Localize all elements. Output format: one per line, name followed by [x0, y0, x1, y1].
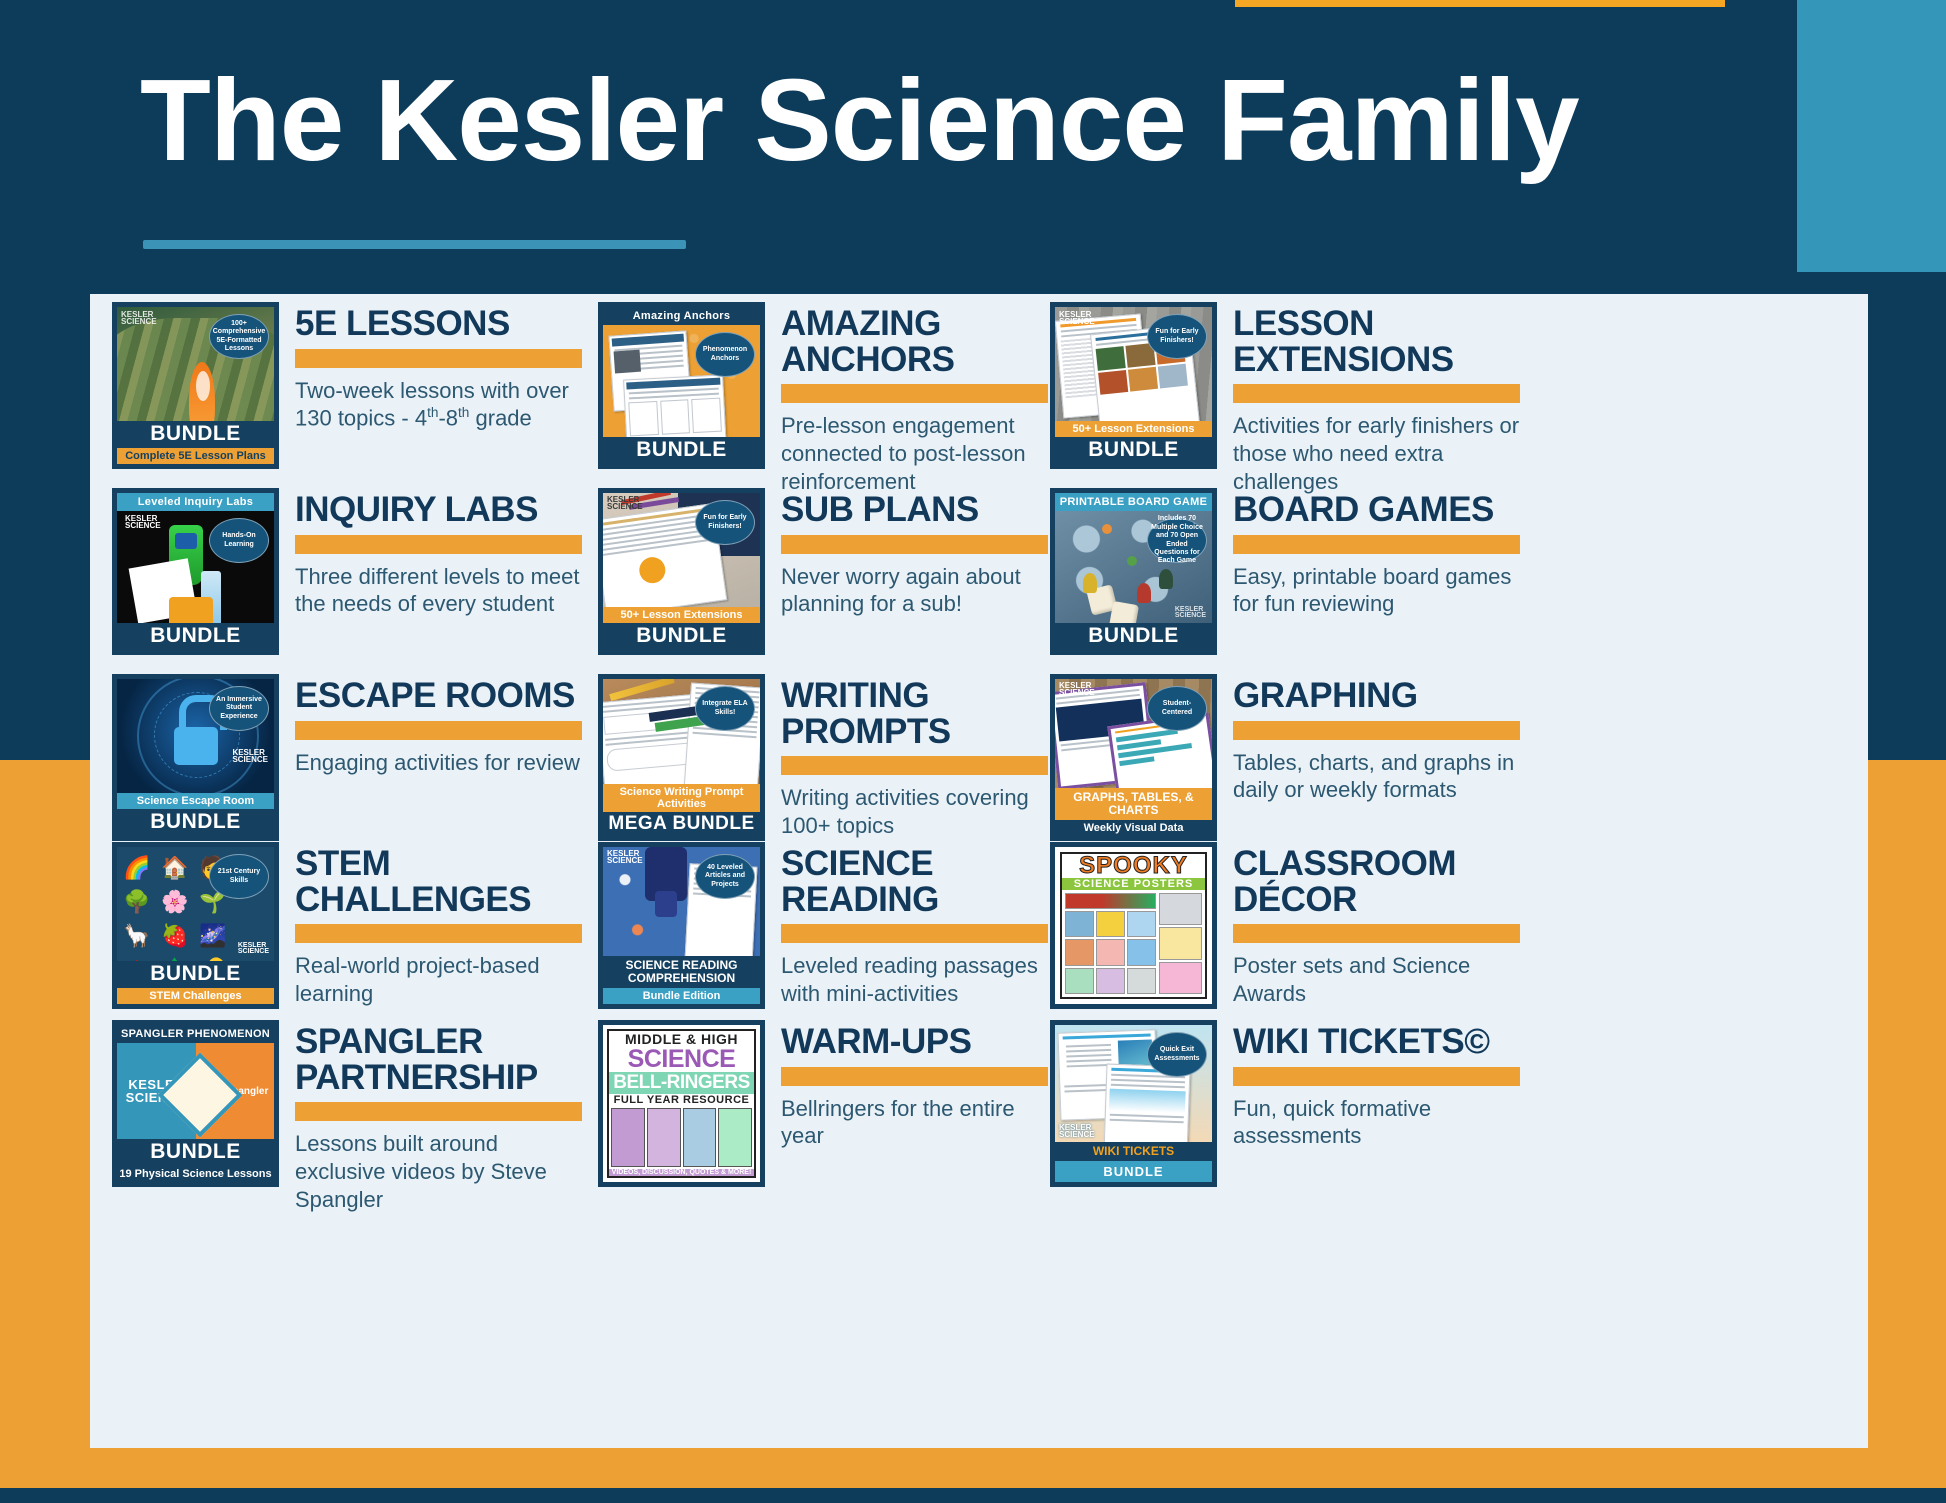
thumb-badge: 21st Century Skills: [209, 854, 269, 899]
product-info: SPANGLER PARTNERSHIP Lessons built aroun…: [295, 1020, 582, 1214]
product-description: Easy, printable board games for fun revi…: [1233, 563, 1520, 618]
product-info: GRAPHING Tables, charts, and graphs in d…: [1233, 674, 1520, 804]
product-description: Writing activities covering 100+ topics: [781, 784, 1048, 839]
product-title: ESCAPE ROOMS: [295, 678, 582, 714]
product-title-rule: [781, 924, 1048, 943]
product-card[interactable]: KESLERSCIENCE 40 Leveled Articles and Pr…: [598, 842, 1048, 1009]
product-title-rule: [1233, 535, 1520, 554]
thumb-badge: Integrate ELA Skills!: [695, 686, 755, 731]
product-thumbnail[interactable]: KESLERSCIENCE Student-Centered GRAPHS, T…: [1050, 674, 1217, 841]
thumb-badge: Hands-On Learning: [209, 518, 269, 563]
thumb-header: PRINTABLE BOARD GAME: [1055, 493, 1212, 511]
product-title-rule: [295, 535, 582, 554]
product-grid: KESLERSCIENCE 100+ Comprehensive 5E-Form…: [90, 294, 1868, 1448]
product-description: Lessons built around exclusive videos by…: [295, 1130, 582, 1213]
product-thumbnail[interactable]: PRINTABLE BOARD GAME KESLERSCIENCE Inclu…: [1050, 488, 1217, 655]
thumb-badge: Fun for Early Finishers!: [695, 500, 755, 545]
product-card[interactable]: PRINTABLE BOARD GAME KESLERSCIENCE Inclu…: [1050, 488, 1520, 655]
product-card[interactable]: KESLERSCIENCE An Immersive Student Exper…: [112, 674, 582, 841]
product-title-rule: [1233, 384, 1520, 403]
product-description: Never worry again about planning for a s…: [781, 563, 1048, 618]
product-card[interactable]: KESLERSCIENCE Quick Exit Assessments WIK…: [1050, 1020, 1520, 1187]
products-panel: KESLERSCIENCE 100+ Comprehensive 5E-Form…: [90, 294, 1868, 1448]
thumbnail-artwork: KESLERSCIENCE Quick Exit Assessments: [1055, 1025, 1212, 1142]
thumbnail-artwork: KESLERSCIENCE 100+ Comprehensive 5E-Form…: [117, 307, 274, 421]
product-description: Tables, charts, and graphs in daily or w…: [1233, 749, 1520, 804]
thumb-caption: 50+ Lesson Extensions: [603, 607, 760, 623]
thumb-subfooter: STEM Challenges: [117, 988, 274, 1004]
product-title-rule: [295, 349, 582, 368]
product-thumbnail[interactable]: MIDDLE & HIGH SCIENCE BELL-RINGERS FULL …: [598, 1020, 765, 1187]
product-info: WRITING PROMPTS Writing activities cover…: [781, 674, 1048, 840]
product-card[interactable]: SPANGLER PHENOMENON KESLERSCIENCE steves…: [112, 1020, 582, 1214]
thumbnail-artwork: KESLERSCIENCE Fun for Early Finishers!: [603, 493, 760, 607]
product-title: BOARD GAMES: [1233, 492, 1520, 528]
product-info: SCIENCE READING Leveled reading passages…: [781, 842, 1048, 1008]
product-thumbnail[interactable]: SPANGLER PHENOMENON KESLERSCIENCE steves…: [112, 1020, 279, 1187]
product-info: CLASSROOM DÉCOR Poster sets and Science …: [1233, 842, 1520, 1008]
product-title: INQUIRY LABS: [295, 492, 582, 528]
product-title: WARM-UPS: [781, 1024, 1048, 1060]
page-title: The Kesler Science Family: [140, 62, 1579, 178]
thumb-footer-label: BUNDLE: [117, 623, 274, 650]
thumb-header: Amazing Anchors: [603, 307, 760, 325]
thumb-footer-label: BUNDLE: [117, 1139, 274, 1166]
product-thumbnail[interactable]: Leveled Inquiry Labs KESLERSCIENCE Hands…: [112, 488, 279, 655]
product-title-rule: [295, 924, 582, 943]
product-title-rule: [1233, 721, 1520, 740]
thumbnail-artwork: MIDDLE & HIGH SCIENCE BELL-RINGERS FULL …: [603, 1025, 760, 1182]
product-thumbnail[interactable]: KESLERSCIENCE Quick Exit Assessments WIK…: [1050, 1020, 1217, 1187]
product-thumbnail[interactable]: KESLERSCIENCE Fun for Early Finishers! 5…: [598, 488, 765, 655]
product-card[interactable]: 🌈🏠🧑 🌳🌸🌱 🦙🍓🌌 🏫🌲🔑 KESLERSCIENCE 21st Centu…: [112, 842, 582, 1009]
thumb-caption: GRAPHS, TABLES, & CHARTS: [1055, 788, 1212, 820]
product-title-rule: [295, 1102, 582, 1121]
thumb-badge: Quick Exit Assessments: [1147, 1032, 1207, 1077]
thumb-footer-label: BUNDLE: [603, 437, 760, 464]
thumb-badge: Includes 70 Multiple Choice and 70 Open …: [1147, 518, 1207, 563]
product-card[interactable]: KESLERSCIENCE Student-Centered GRAPHS, T…: [1050, 674, 1520, 841]
thumb-badge: Fun for Early Finishers!: [1147, 314, 1207, 359]
product-card[interactable]: KESLERSCIENCE 100+ Comprehensive 5E-Form…: [112, 302, 582, 469]
thumb-caption: 50+ Lesson Extensions: [1055, 421, 1212, 437]
background-teal-block: [1797, 0, 1946, 272]
product-title: 5E LESSONS: [295, 306, 582, 342]
thumb-subfooter: 19 Physical Science Lessons: [117, 1166, 274, 1182]
product-title: SPANGLER PARTNERSHIP: [295, 1024, 582, 1095]
product-title-rule: [295, 721, 582, 740]
thumb-caption: SCIENCE READING COMPREHENSION: [603, 956, 760, 988]
thumb-caption: WIKI TICKETS: [1055, 1142, 1212, 1161]
thumb-subfooter: Bundle Edition: [603, 988, 760, 1004]
product-title: CLASSROOM DÉCOR: [1233, 846, 1520, 917]
thumb-badge: Student-Centered: [1147, 686, 1207, 731]
product-info: ESCAPE ROOMS Engaging activities for rev…: [295, 674, 582, 776]
background-orange-topline: [1235, 0, 1725, 7]
product-title-rule: [1233, 924, 1520, 943]
product-thumbnail[interactable]: Integrate ELA Skills! Science Writing Pr…: [598, 674, 765, 841]
product-thumbnail[interactable]: KESLERSCIENCE Fun for Early Finishers! 5…: [1050, 302, 1217, 469]
product-description: Three different levels to meet the needs…: [295, 563, 582, 618]
product-title-rule: [781, 756, 1048, 775]
thumb-footer-label: BUNDLE: [117, 809, 274, 836]
thumb-subfooter: Weekly Visual Data: [1055, 820, 1212, 836]
thumbnail-artwork: KESLERSCIENCE Fun for Early Finishers!: [1055, 307, 1212, 421]
product-info: INQUIRY LABS Three different levels to m…: [295, 488, 582, 618]
product-info: AMAZING ANCHORS Pre-lesson engagement co…: [781, 302, 1048, 496]
background-navy-footer: [0, 1488, 1946, 1503]
product-description: Two-week lessons with over 130 topics - …: [295, 377, 582, 433]
product-description: Leveled reading passages with mini-activ…: [781, 952, 1048, 1007]
product-title-rule: [1233, 1067, 1520, 1086]
product-title: WRITING PROMPTS: [781, 678, 1048, 749]
thumbnail-artwork: KESLERSCIENCE Student-Centered: [1055, 679, 1212, 788]
product-title: LESSON EXTENSIONS: [1233, 306, 1520, 377]
product-card[interactable]: KESLERSCIENCE Fun for Early Finishers! 5…: [1050, 302, 1520, 496]
product-title-rule: [781, 535, 1048, 554]
thumbnail-artwork: SPOOKY SCIENCE POSTERS: [1055, 847, 1212, 1004]
thumbnail-artwork: KESLERSCIENCE Includes 70 Multiple Choic…: [1055, 511, 1212, 623]
thumb-caption: Science Escape Room: [117, 793, 274, 809]
thumb-footer-label: MEGA BUNDLE: [603, 812, 760, 836]
thumb-caption: Science Writing Prompt Activities: [603, 784, 760, 812]
thumb-badge: Phenomenon Anchors: [695, 332, 755, 377]
thumbnail-artwork: Integrate ELA Skills!: [603, 679, 760, 784]
product-card[interactable]: Integrate ELA Skills! Science Writing Pr…: [598, 674, 1048, 841]
product-info: STEM CHALLENGES Real-world project-based…: [295, 842, 582, 1008]
thumb-subfooter: BUNDLE: [1055, 1161, 1212, 1182]
product-description: Activities for early finishers or those …: [1233, 412, 1520, 495]
product-card[interactable]: Amazing Anchors Phenomenon Anchors: [598, 302, 1048, 496]
thumb-badge: 100+ Comprehensive 5E-Formatted Lessons: [209, 314, 269, 359]
title-underline: [143, 240, 686, 249]
product-title-rule: [781, 384, 1048, 403]
product-info: 5E LESSONS Two-week lessons with over 13…: [295, 302, 582, 432]
thumbnail-artwork: KESLERSCIENCE 40 Leveled Articles and Pr…: [603, 847, 760, 956]
product-description: Poster sets and Science Awards: [1233, 952, 1520, 1007]
product-info: BOARD GAMES Easy, printable board games …: [1233, 488, 1520, 618]
product-thumbnail[interactable]: Amazing Anchors Phenomenon Anchors: [598, 302, 765, 469]
thumbnail-artwork: Phenomenon Anchors: [603, 325, 760, 437]
product-title: STEM CHALLENGES: [295, 846, 582, 917]
product-card[interactable]: MIDDLE & HIGH SCIENCE BELL-RINGERS FULL …: [598, 1020, 1048, 1187]
product-card[interactable]: SPOOKY SCIENCE POSTERS: [1050, 842, 1520, 1009]
product-title: GRAPHING: [1233, 678, 1520, 714]
product-thumbnail[interactable]: KESLERSCIENCE 40 Leveled Articles and Pr…: [598, 842, 765, 1009]
product-title: SUB PLANS: [781, 492, 1048, 528]
product-info: WARM-UPS Bellringers for the entire year: [781, 1020, 1048, 1150]
thumbnail-artwork: KESLERSCIENCE An Immersive Student Exper…: [117, 679, 274, 793]
product-title: SCIENCE READING: [781, 846, 1048, 917]
product-description: Engaging activities for review: [295, 749, 582, 777]
product-description: Pre-lesson engagement connected to post-…: [781, 412, 1048, 495]
thumb-footer-label: BUNDLE: [1055, 623, 1212, 650]
product-info: WIKI TICKETS© Fun, quick formative asses…: [1233, 1020, 1520, 1150]
product-title: AMAZING ANCHORS: [781, 306, 1048, 377]
product-title: WIKI TICKETS©: [1233, 1024, 1520, 1060]
thumbnail-artwork: KESLERSCIENCE Hands-On Learning: [117, 511, 274, 623]
product-description: Fun, quick formative assessments: [1233, 1095, 1520, 1150]
product-thumbnail[interactable]: SPOOKY SCIENCE POSTERS: [1050, 842, 1217, 1009]
product-info: SUB PLANS Never worry again about planni…: [781, 488, 1048, 618]
thumb-badge: 40 Leveled Articles and Projects: [695, 854, 755, 899]
product-description: Real-world project-based learning: [295, 952, 582, 1007]
product-thumbnail[interactable]: KESLERSCIENCE An Immersive Student Exper…: [112, 674, 279, 841]
product-thumbnail[interactable]: 🌈🏠🧑 🌳🌸🌱 🦙🍓🌌 🏫🌲🔑 KESLERSCIENCE 21st Centu…: [112, 842, 279, 1009]
product-thumbnail[interactable]: KESLERSCIENCE 100+ Comprehensive 5E-Form…: [112, 302, 279, 469]
thumb-footer-label: BUNDLE: [1055, 437, 1212, 464]
product-card[interactable]: KESLERSCIENCE Fun for Early Finishers! 5…: [598, 488, 1048, 655]
thumb-badge: An Immersive Student Experience: [209, 686, 269, 731]
thumbnail-artwork: 🌈🏠🧑 🌳🌸🌱 🦙🍓🌌 🏫🌲🔑 KESLERSCIENCE 21st Centu…: [117, 847, 274, 961]
product-info: LESSON EXTENSIONS Activities for early f…: [1233, 302, 1520, 496]
thumb-header: Leveled Inquiry Labs: [117, 493, 274, 511]
thumb-footer-label: BUNDLE: [117, 961, 274, 988]
thumb-header: SPANGLER PHENOMENON: [117, 1025, 274, 1043]
thumb-footer-label: BUNDLE: [117, 421, 274, 448]
product-description: Bellringers for the entire year: [781, 1095, 1048, 1150]
thumb-footer-label: BUNDLE: [603, 623, 760, 650]
thumb-subfooter: Complete 5E Lesson Plans: [117, 448, 274, 464]
product-card[interactable]: Leveled Inquiry Labs KESLERSCIENCE Hands…: [112, 488, 582, 655]
thumbnail-artwork: KESLERSCIENCE stevespangler: [117, 1043, 274, 1139]
product-title-rule: [781, 1067, 1048, 1086]
